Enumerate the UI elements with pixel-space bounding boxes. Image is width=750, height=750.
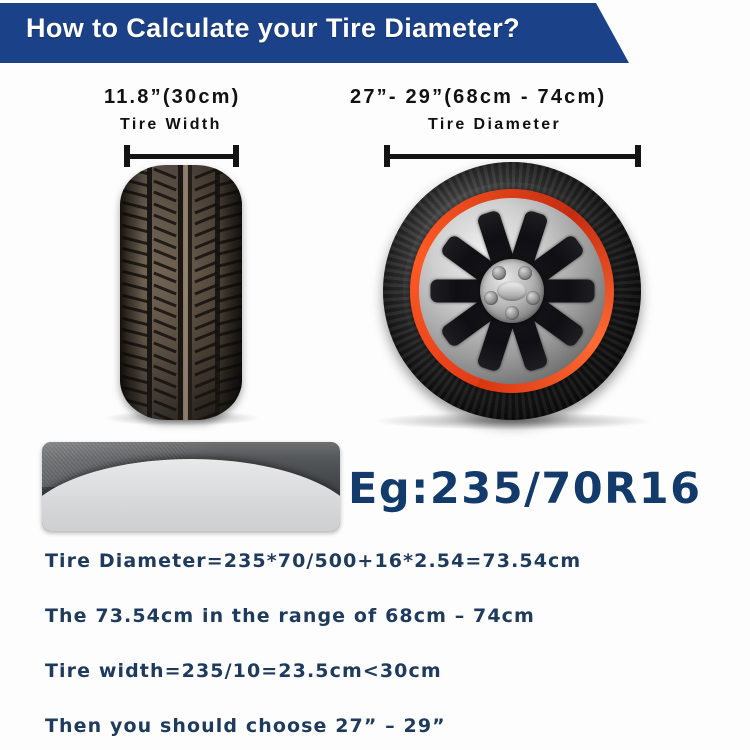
wheel-center-cap xyxy=(497,281,527,301)
tire-width-value-label: 11.8”(30cm) xyxy=(104,86,241,109)
tread-sipe xyxy=(153,179,176,191)
wheel-lug-nut xyxy=(505,306,519,320)
tread-sipe xyxy=(153,330,176,342)
tread-sipe xyxy=(194,260,217,272)
dimension-cap-right xyxy=(233,145,239,167)
wheel-lug-nut xyxy=(484,291,498,305)
tread-sipe xyxy=(194,307,217,319)
tread-sipe xyxy=(194,179,217,191)
tire-tread-image xyxy=(120,165,242,420)
tread-sipe xyxy=(153,260,176,272)
tread-shoulder-right xyxy=(220,165,242,420)
width-dimension-bar-icon xyxy=(124,145,239,167)
tread-sipe xyxy=(194,353,217,365)
tread-sipe xyxy=(153,342,176,354)
tread-sipe xyxy=(194,376,217,388)
tread-sipe xyxy=(194,249,217,261)
calculation-line-3: Tire width=235/10=23.5cm<30cm xyxy=(45,660,442,682)
tread-shoulder-left xyxy=(120,165,142,420)
tire-width-caption: Tire Width xyxy=(120,116,222,134)
tread-sipe xyxy=(194,330,217,342)
tread-sipe xyxy=(194,202,217,214)
tread-sipe xyxy=(194,272,217,284)
tread-sipe xyxy=(194,318,217,330)
tread-sipe xyxy=(153,168,176,180)
tread-sipe xyxy=(153,365,176,377)
tire-diameter-caption: Tire Diameter xyxy=(428,116,561,134)
dimension-line xyxy=(384,154,641,159)
tread-sipe xyxy=(153,295,176,307)
tread-sipe xyxy=(194,191,217,203)
example-size-code: Eg:235/70R16 xyxy=(348,464,702,514)
tire-sidewall-photo: 235/70R16 106H xyxy=(42,442,340,531)
tread-sipe xyxy=(194,284,217,296)
tread-sipe xyxy=(153,226,176,238)
tread-sipe xyxy=(194,365,217,377)
alloy-wheel-image xyxy=(383,162,641,420)
tread-sipe xyxy=(153,411,176,420)
tire-diameter-value-label: 27”- 29”(68cm - 74cm) xyxy=(350,86,606,109)
tread-sipe xyxy=(153,284,176,296)
calculation-line-4: Then you should choose 27” – 29” xyxy=(45,715,446,737)
tread-sipe xyxy=(194,295,217,307)
tread-sipe xyxy=(153,249,176,261)
dimension-line xyxy=(124,154,239,159)
tread-sipe xyxy=(153,307,176,319)
tread-sipe xyxy=(153,318,176,330)
tread-sipe xyxy=(153,191,176,203)
tread-sipe xyxy=(153,353,176,365)
infographic-canvas: How to Calculate your Tire Diameter? 11.… xyxy=(0,0,750,750)
tread-sipe xyxy=(194,342,217,354)
tread-sipe xyxy=(194,400,217,412)
tread-sipe xyxy=(153,202,176,214)
calculation-line-2: The 73.54cm in the range of 68cm – 74cm xyxy=(45,605,535,627)
tread-body xyxy=(120,165,242,420)
tread-sipe xyxy=(194,168,217,180)
tread-sipe xyxy=(153,400,176,412)
tread-sipe xyxy=(153,237,176,249)
tread-sipe xyxy=(194,411,217,420)
tread-sipe xyxy=(153,214,176,226)
wheel-lug-nut xyxy=(518,266,532,280)
tread-sipe xyxy=(194,226,217,238)
tread-sipe xyxy=(153,388,176,400)
tread-sipe xyxy=(194,214,217,226)
tread-sipe xyxy=(194,237,217,249)
wheel-lug-nut xyxy=(526,291,540,305)
tread-sipe xyxy=(153,272,176,284)
tread-sipe xyxy=(194,388,217,400)
page-title: How to Calculate your Tire Diameter? xyxy=(26,13,520,44)
tread-sipe xyxy=(153,376,176,388)
calculation-line-1: Tire Diameter=235*70/500+16*2.54=73.54cm xyxy=(45,550,581,572)
